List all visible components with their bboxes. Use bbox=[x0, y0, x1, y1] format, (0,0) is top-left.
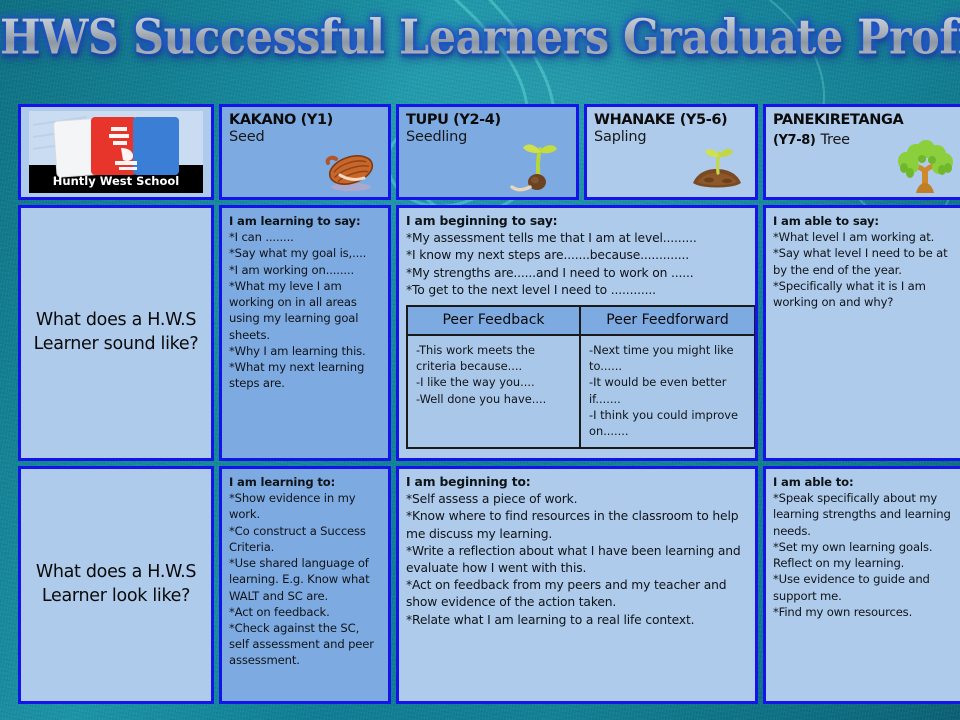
school-logo-cell: Huntly West School bbox=[18, 104, 214, 200]
cell-lead-sound-middle: I am beginning to say: bbox=[406, 213, 748, 230]
cell-sound-kakano: I am learning to say: *I can ........*Sa… bbox=[219, 205, 391, 461]
cell-lead-sound-panekiretanga: I am able to say: bbox=[773, 213, 955, 229]
row-question-sound-like: What does a H.W.S Learner sound like? bbox=[18, 205, 214, 461]
cell-lead-sound-kakano: I am learning to say: bbox=[229, 213, 381, 229]
peer-feedforward-content: -Next time you might like to......-It wo… bbox=[581, 336, 754, 447]
question-text-look-like: What does a H.W.S Learner look like? bbox=[21, 561, 211, 608]
cell-items-sound-panekiretanga: *What level I am working at.*Say what le… bbox=[773, 229, 955, 310]
cell-look-kakano: I am learning to: *Show evidence in my w… bbox=[219, 466, 391, 704]
cell-lead-look-middle: I am beginning to: bbox=[406, 474, 748, 491]
cell-body-sound-panekiretanga: I am able to say: *What level I am worki… bbox=[773, 213, 955, 310]
header-subtitle-prefix-panekiretanga: (Y7-8) bbox=[773, 133, 815, 148]
cell-items-sound-middle: *My assessment tells me that I am at lev… bbox=[406, 230, 748, 299]
header-cell-tupu: TUPU (Y2-4) Seedling bbox=[396, 104, 579, 200]
cell-lead-look-kakano: I am learning to: bbox=[229, 474, 381, 490]
page-title: HWS Successful Learners Graduate Profile bbox=[0, 13, 960, 63]
cell-body-sound-kakano: I am learning to say: *I can ........*Sa… bbox=[229, 213, 381, 391]
peer-feedback-header: Peer Feedback bbox=[408, 307, 581, 336]
header-cell-kakano: KAKANO (Y1) Seed bbox=[219, 104, 391, 200]
cell-look-middle: I am beginning to: *Self assess a piece … bbox=[396, 466, 758, 704]
header-subtitle-panekiretanga: Tree bbox=[820, 132, 849, 148]
cell-items-look-panekiretanga: *Speak specifically about my learning st… bbox=[773, 490, 955, 620]
slide-title-container: HWS Successful Learners Graduate Profile bbox=[0, 16, 960, 61]
cell-sound-panekiretanga: I am able to say: *What level I am worki… bbox=[763, 205, 960, 461]
peer-feedback-content: -This work meets the criteria because...… bbox=[408, 336, 581, 447]
sapling-icon bbox=[685, 139, 747, 195]
cell-look-panekiretanga: I am able to: *Speak specifically about … bbox=[763, 466, 960, 704]
cell-lead-look-panekiretanga: I am able to: bbox=[773, 474, 955, 490]
header-cell-whanake: WHANAKE (Y5-6) Sapling bbox=[584, 104, 758, 200]
school-logo-icon: Huntly West School bbox=[29, 111, 203, 193]
header-title-tupu: TUPU (Y2-4) bbox=[406, 112, 569, 128]
header-title-panekiretanga: PANEKIRETANGA bbox=[773, 112, 955, 128]
seed-icon bbox=[318, 139, 380, 195]
cell-items-sound-kakano: *I can ........*Say what my goal is,....… bbox=[229, 229, 381, 391]
row-question-look-like: What does a H.W.S Learner look like? bbox=[18, 466, 214, 704]
cell-body-look-middle: I am beginning to: *Self assess a piece … bbox=[406, 474, 748, 629]
cell-items-look-middle: *Self assess a piece of work.*Know where… bbox=[406, 491, 748, 629]
question-text-sound-like: What does a H.W.S Learner sound like? bbox=[21, 309, 211, 356]
cell-body-look-panekiretanga: I am able to: *Speak specifically about … bbox=[773, 474, 955, 620]
slide-canvas: HWS Successful Learners Graduate Profile bbox=[0, 0, 960, 720]
graduate-profile-table: Huntly West School KAKANO (Y1) Seed TUPU… bbox=[18, 104, 945, 694]
header-title-whanake: WHANAKE (Y5-6) bbox=[594, 112, 748, 128]
header-cell-panekiretanga: PANEKIRETANGA (Y7-8) Tree bbox=[763, 104, 960, 200]
seedling-icon bbox=[506, 139, 568, 195]
school-name-label: Huntly West School bbox=[53, 174, 179, 188]
peer-feedforward-header: Peer Feedforward bbox=[581, 307, 754, 336]
cell-body-look-kakano: I am learning to: *Show evidence in my w… bbox=[229, 474, 381, 669]
cell-body-sound-middle: I am beginning to say: *My assessment te… bbox=[406, 213, 748, 299]
header-title-kakano: KAKANO (Y1) bbox=[229, 112, 381, 128]
peer-feedback-table: Peer Feedback Peer Feedforward -This wor… bbox=[406, 305, 756, 449]
cell-sound-middle: I am beginning to say: *My assessment te… bbox=[396, 205, 758, 461]
cell-items-look-kakano: *Show evidence in my work.*Co construct … bbox=[229, 490, 381, 668]
tree-icon bbox=[892, 135, 958, 197]
